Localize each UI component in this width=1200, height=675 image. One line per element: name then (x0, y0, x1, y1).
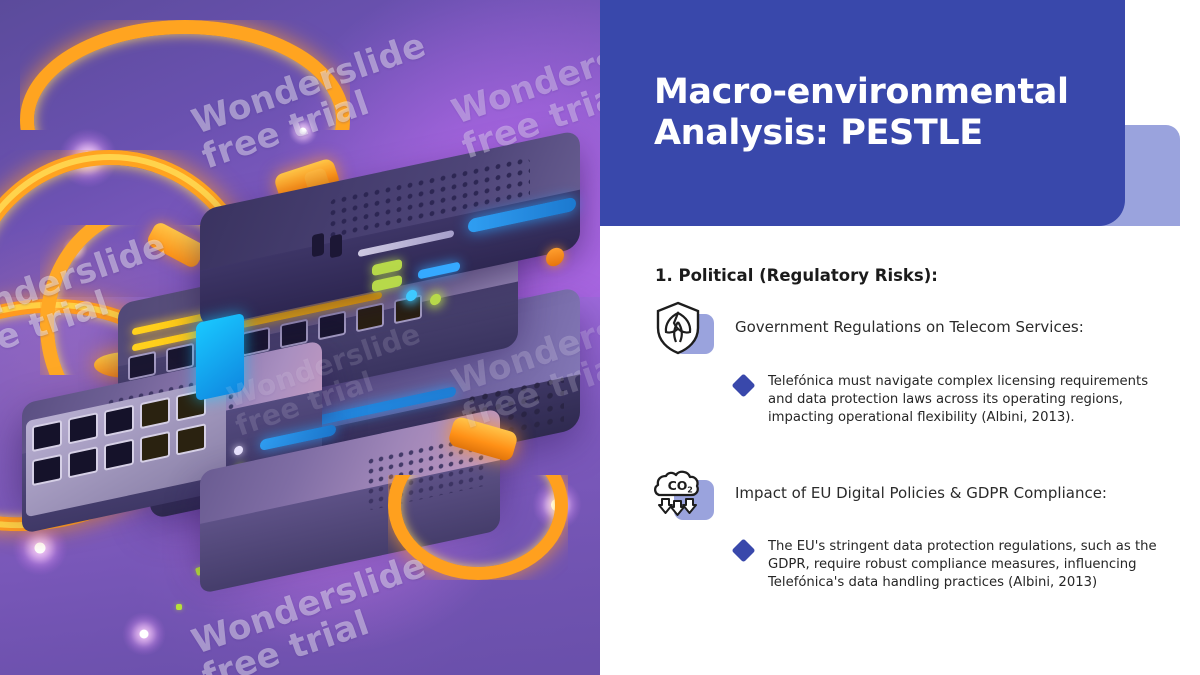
hero-image: Wonderslidefree trial Wonderslidefree tr… (0, 0, 600, 675)
section-heading: 1. Political (Regulatory Risks): (655, 266, 938, 285)
confetti-dot (176, 604, 182, 610)
co2-cloud-glyph: CO 2 (652, 466, 704, 522)
page-title: Macro-environmental Analysis: PESTLE (654, 72, 1084, 153)
title-block: Macro-environmental Analysis: PESTLE (600, 0, 1125, 226)
device-accent-cyan (196, 313, 244, 401)
content-area: 1. Political (Regulatory Risks): Governm… (600, 226, 1200, 675)
bullet-text: Telefónica must navigate complex licensi… (768, 373, 1168, 428)
bullet-text: The EU's stringent data protection regul… (768, 538, 1168, 593)
shield-leaf-glyph (652, 300, 704, 356)
glow-orb (122, 612, 166, 656)
block-heading: Impact of EU Digital Policies & GDPR Com… (735, 484, 1175, 504)
shield-leaf-icon (648, 300, 720, 360)
network-router-top (200, 170, 580, 340)
diamond-bullet-icon (731, 538, 755, 562)
svg-text:2: 2 (687, 486, 693, 495)
svg-text:CO: CO (668, 478, 688, 493)
diamond-bullet-icon (731, 373, 755, 397)
slide-canvas: Wonderslidefree trial Wonderslidefree tr… (0, 0, 1200, 675)
block-heading: Government Regulations on Telecom Servic… (735, 318, 1175, 338)
co2-cloud-icon: CO 2 (648, 466, 720, 526)
